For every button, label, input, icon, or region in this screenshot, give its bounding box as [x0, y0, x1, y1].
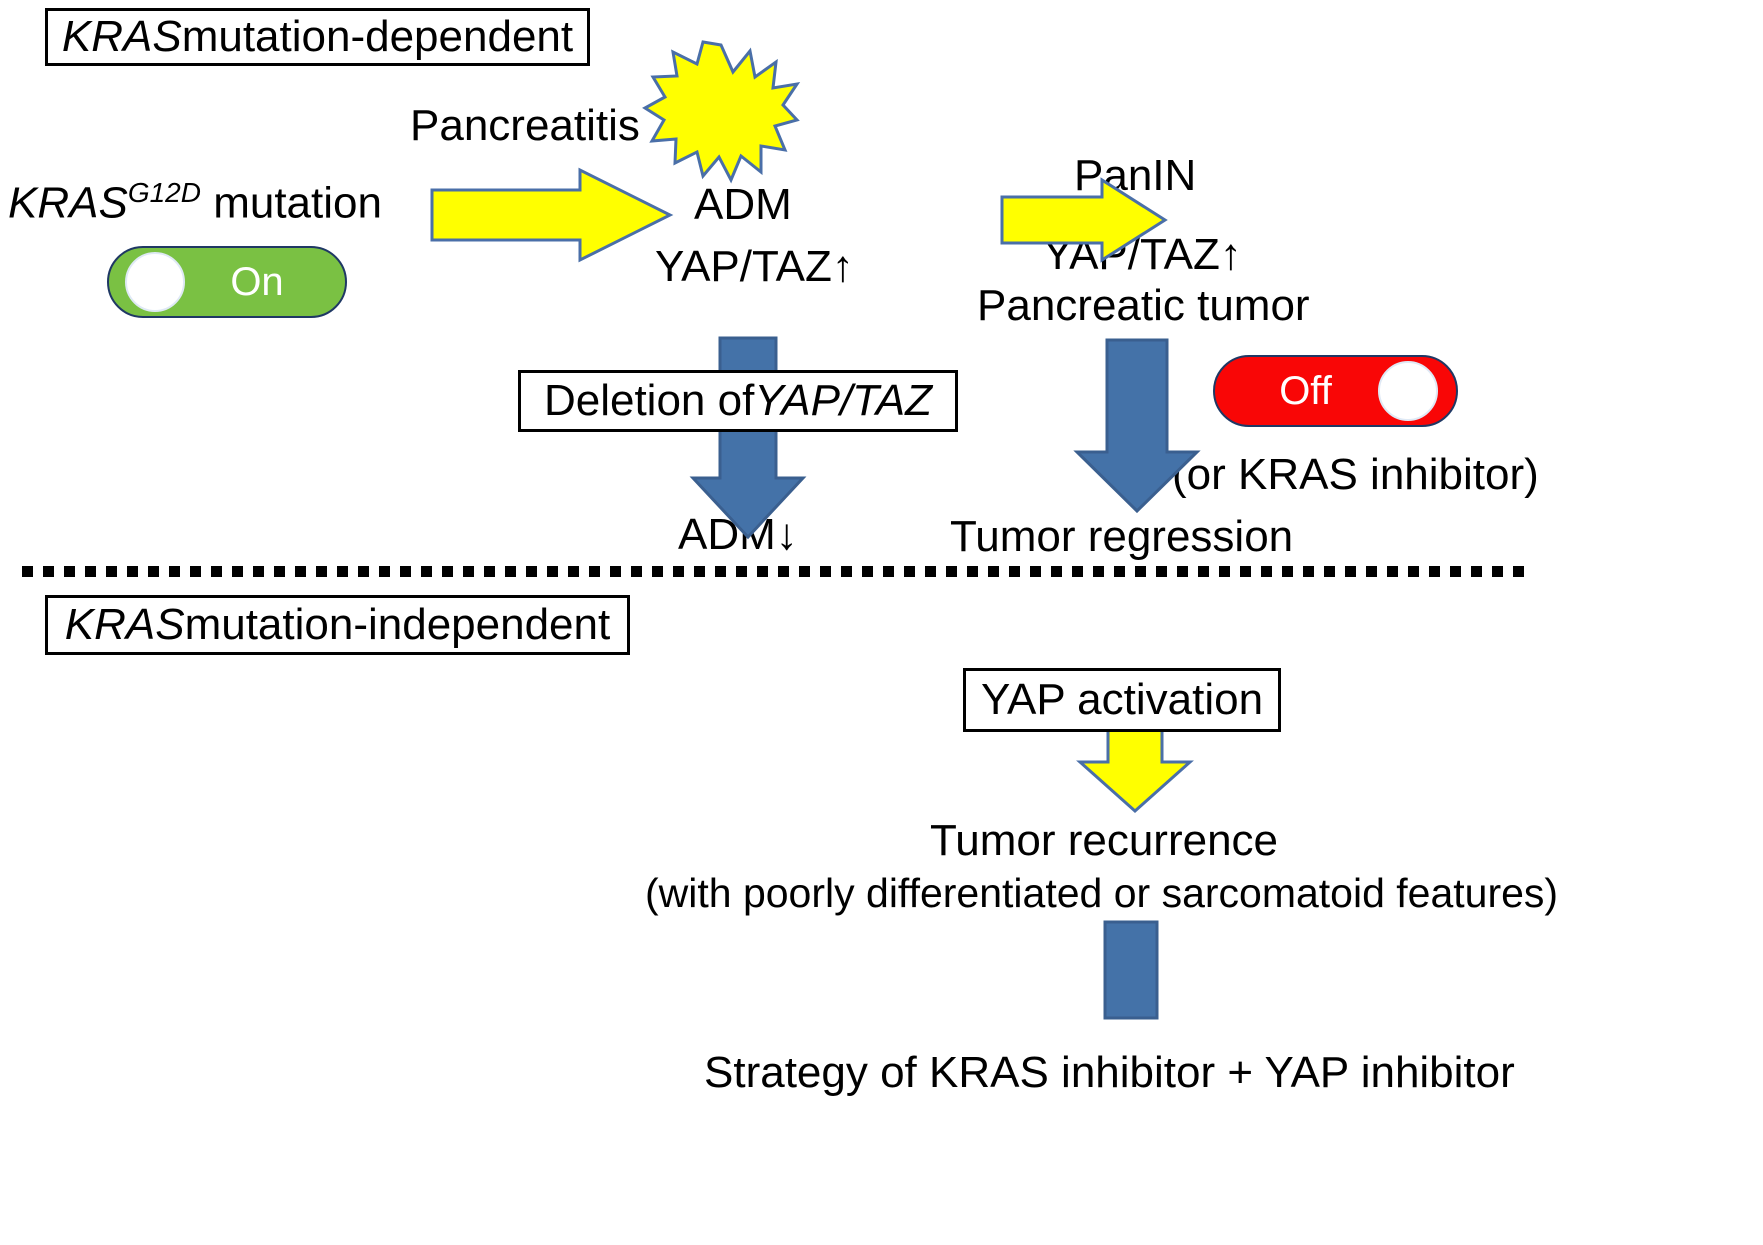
kras-g12d-suffix: mutation	[201, 179, 382, 228]
blue-arrow-adm	[693, 338, 803, 538]
kras-independent-emphasis: KRAS	[65, 600, 185, 650]
section-divider	[22, 566, 1534, 577]
or-kras-inhibitor-label: (or KRAS inhibitor)	[1172, 452, 1539, 498]
strategy-label: Strategy of KRAS inhibitor + YAP inhibit…	[704, 1050, 1515, 1096]
kras-g12d-superscript: G12D	[128, 177, 201, 208]
toggle-on-label: On	[185, 260, 329, 305]
kras-on-toggle[interactable]: On	[107, 246, 347, 318]
tumor-recurrence-sub-label: (with poorly differentiated or sarcomato…	[645, 872, 1558, 915]
connector-bar-icon	[1103, 920, 1159, 1020]
pancreatic-tumor-label: Pancreatic tumor	[977, 283, 1310, 329]
kras-dependent-rest: mutation-dependent	[182, 12, 573, 62]
yap-activation-label: YAP activation	[981, 675, 1263, 725]
kras-dependent-title-box: KRAS mutation-dependent	[45, 8, 590, 66]
toggle-off-label: Off	[1233, 369, 1378, 414]
adm-label: ADM	[694, 182, 792, 228]
kras-dependent-emphasis: KRAS	[62, 12, 182, 62]
kras-independent-rest: mutation-independent	[185, 600, 611, 650]
diagram-canvas: KRAS mutation-dependent KRAS mutation-in…	[0, 0, 1763, 1245]
starburst-icon	[645, 42, 797, 182]
kras-g12d-prefix: KRAS	[8, 179, 128, 228]
yellow-arrow-1	[432, 170, 672, 260]
kras-g12d-mutation-label: KRASG12D mutation	[8, 178, 382, 227]
kras-off-toggle[interactable]: Off	[1213, 355, 1458, 427]
deletion-yaptaz-box: Deletion of YAP/TAZ	[518, 370, 958, 432]
tumor-recurrence-label: Tumor recurrence	[930, 818, 1278, 864]
adm-yaptaz-label: YAP/TAZ↑	[655, 244, 854, 290]
tumor-regression-label: Tumor regression	[950, 514, 1293, 560]
deletion-emphasis: YAP/TAZ	[754, 376, 932, 426]
toggle-knob-off	[1378, 361, 1438, 421]
blue-arrow-tumor	[1077, 340, 1197, 512]
deletion-plain: Deletion of	[544, 376, 754, 426]
yellow-arrow-2	[1002, 180, 1167, 260]
yap-activation-box: YAP activation	[963, 668, 1281, 732]
kras-independent-title-box: KRAS mutation-independent	[45, 595, 630, 655]
pancreatitis-label: Pancreatitis	[410, 103, 640, 149]
toggle-knob-on	[125, 252, 185, 312]
